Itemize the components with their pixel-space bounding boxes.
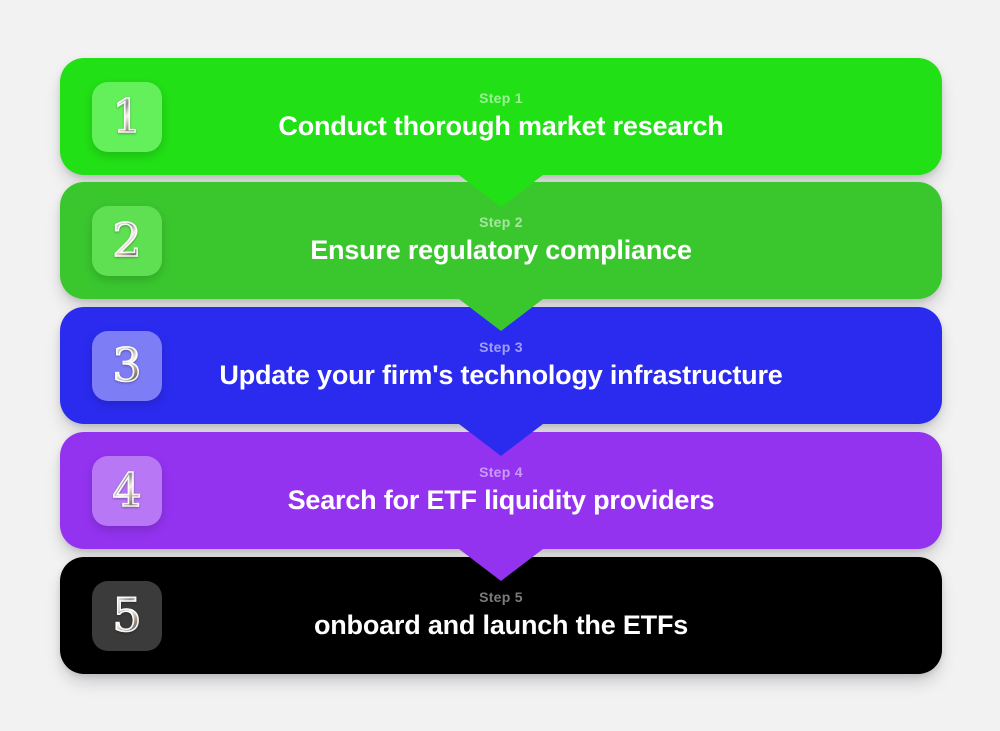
- step-label-3: Step 3: [180, 340, 822, 355]
- step-title-4: Search for ETF liquidity providers: [180, 485, 822, 516]
- step-title-3: Update your firm's technology infrastruc…: [180, 360, 822, 391]
- step-number-tile-5: 5: [92, 581, 162, 651]
- numeral-4-icon: 4: [112, 467, 141, 513]
- step-label-4: Step 4: [180, 465, 822, 480]
- step-flow-diagram: 1 Step 1 Conduct thorough market researc…: [60, 58, 942, 673]
- step-card-3[interactable]: 3 Step 3 Update your firm's technology i…: [60, 307, 942, 424]
- step-text-block-5: Step 5 onboard and launch the ETFs: [60, 590, 942, 641]
- numeral-1-icon: 1: [112, 93, 141, 139]
- step-label-5: Step 5: [180, 590, 822, 605]
- step-title-5: onboard and launch the ETFs: [180, 610, 822, 641]
- step-number-tile-4: 4: [92, 456, 162, 526]
- step-card-5[interactable]: 5 Step 5 onboard and launch the ETFs: [60, 557, 942, 674]
- step-label-2: Step 2: [180, 215, 822, 230]
- step-number-tile-1: 1: [92, 82, 162, 152]
- step-label-1: Step 1: [180, 91, 822, 106]
- step-number-tile-3: 3: [92, 331, 162, 401]
- step-title-1: Conduct thorough market research: [180, 111, 822, 142]
- step-number-tile-2: 2: [92, 206, 162, 276]
- step-text-block-2: Step 2 Ensure regulatory compliance: [60, 215, 942, 266]
- step-card-4[interactable]: 4 Step 4 Search for ETF liquidity provid…: [60, 432, 942, 549]
- numeral-3-icon: 3: [112, 342, 141, 388]
- step-card-2[interactable]: 2 Step 2 Ensure regulatory compliance: [60, 182, 942, 299]
- step-title-2: Ensure regulatory compliance: [180, 235, 822, 266]
- step-text-block-3: Step 3 Update your firm's technology inf…: [60, 340, 942, 391]
- step-card-1[interactable]: 1 Step 1 Conduct thorough market researc…: [60, 58, 942, 175]
- step-text-block-4: Step 4 Search for ETF liquidity provider…: [60, 465, 942, 516]
- numeral-2-icon: 2: [112, 217, 141, 263]
- step-text-block-1: Step 1 Conduct thorough market research: [60, 91, 942, 142]
- numeral-5-icon: 5: [112, 592, 141, 638]
